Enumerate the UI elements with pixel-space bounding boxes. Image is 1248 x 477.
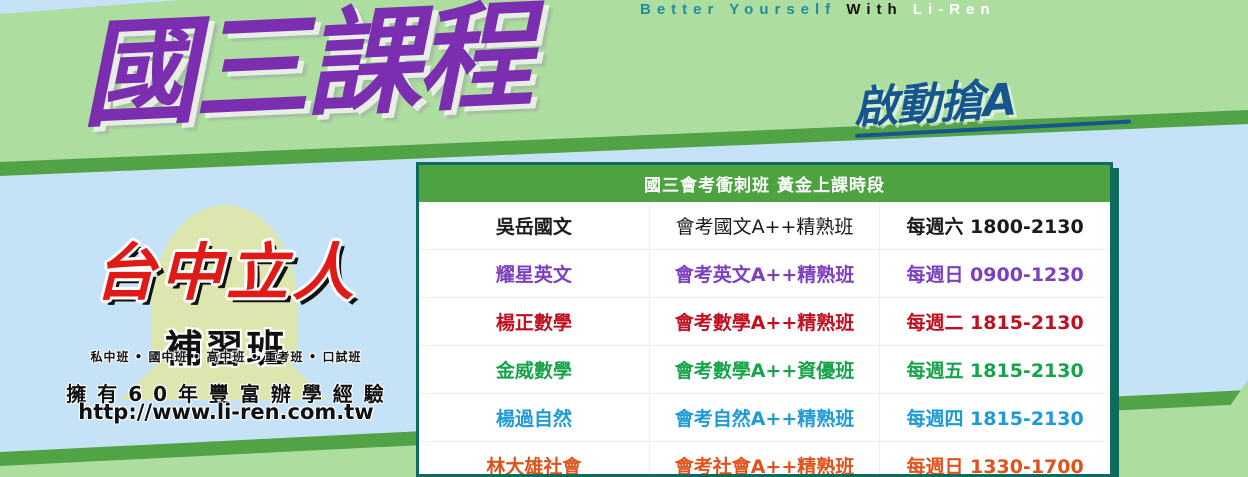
schedule-table-container: 國三會考衝刺班 黃金上課時段 吳岳國文會考國文A++精熟班每週六 1800-21…: [416, 162, 1113, 477]
table-row: 楊過自然會考自然A++精熟班每週四 1815-2130: [419, 394, 1110, 442]
table-row: 耀星英文會考英文A++精熟班每週日 0900-1230: [419, 250, 1110, 298]
row-teacher: 林大雄社會: [419, 442, 649, 477]
schedule-header-row: 國三會考衝刺班 黃金上課時段: [419, 165, 1110, 202]
row-teacher: 金威數學: [419, 346, 649, 394]
poster-canvas: Better Yourself With Li-Ren 國三課程 啟動搶A 台中…: [0, 0, 1248, 477]
row-time: 每週二 1815-2130: [880, 298, 1110, 346]
tagline: Better Yourself With Li-Ren: [640, 1, 1240, 18]
row-time: 每週六 1800-2130: [880, 202, 1110, 250]
table-row: 林大雄社會會考社會A++精熟班每週日 1330-1700: [419, 442, 1110, 477]
schedule-table: 國三會考衝刺班 黃金上課時段 吳岳國文會考國文A++精熟班每週六 1800-21…: [419, 165, 1110, 477]
row-course: 會考國文A++精熟班: [649, 202, 879, 250]
tagline-word-better: Better: [640, 1, 719, 18]
table-row: 楊正數學會考數學A++精熟班每週二 1815-2130: [419, 298, 1110, 346]
row-time: 每週四 1815-2130: [880, 394, 1110, 442]
table-row: 吳岳國文會考國文A++精熟班每週六 1800-2130: [419, 202, 1110, 250]
row-course: 會考英文A++精熟班: [649, 250, 879, 298]
row-teacher: 楊過自然: [419, 394, 649, 442]
schedule-header-title: 國三會考衝刺班 黃金上課時段: [419, 165, 1110, 202]
tagline-word-liren: Li-Ren: [913, 1, 996, 18]
logo-website-url[interactable]: http://www.li-ren.com.tw: [46, 400, 406, 424]
logo-brand-name: 台中立人: [46, 222, 406, 312]
row-time: 每週五 1815-2130: [880, 346, 1110, 394]
row-course: 會考社會A++精熟班: [649, 442, 879, 477]
row-teacher: 楊正數學: [419, 298, 649, 346]
row-time: 每週日 1330-1700: [880, 442, 1110, 477]
row-teacher: 吳岳國文: [419, 202, 649, 250]
row-time: 每週日 0900-1230: [880, 250, 1110, 298]
tagline-word-with: With: [846, 1, 902, 18]
row-course: 會考數學A++精熟班: [649, 298, 879, 346]
table-row: 金威數學會考數學A++資優班每週五 1815-2130: [419, 346, 1110, 394]
row-course: 會考數學A++資優班: [649, 346, 879, 394]
row-teacher: 耀星英文: [419, 250, 649, 298]
schedule-table-body: 吳岳國文會考國文A++精熟班每週六 1800-2130耀星英文會考英文A++精熟…: [419, 202, 1110, 477]
page-subtitle-text: 啟動搶A: [853, 75, 1018, 134]
logo-class-types: 私中班 • 國中班 • 高中班 • 重考班 • 口試班: [46, 348, 406, 365]
row-course: 會考自然A++精熟班: [649, 394, 879, 442]
page-title: 國三課程: [78, 0, 531, 138]
tagline-word-yourself: Yourself: [729, 1, 836, 18]
